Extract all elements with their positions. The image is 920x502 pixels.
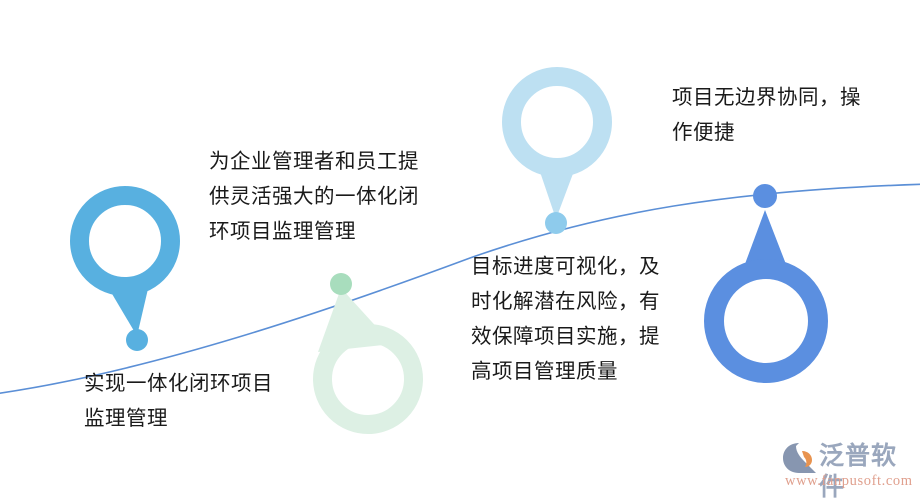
marker-pin-goal-progress-visual[interactable] <box>512 77 603 235</box>
watermark-url: www.fanpusoft.com <box>785 472 913 490</box>
callout-implement-closed-loop: 实现一体化闭环项目 监理管理 <box>84 366 314 436</box>
callout-borderless-collaboration: 项目无边界协同，操 作便捷 <box>672 80 894 150</box>
watermark-brand: 泛普软件 <box>819 440 918 502</box>
node-dot-1[interactable] <box>126 329 148 351</box>
watermark: 泛普软件 www.fanpusoft.com <box>783 440 918 496</box>
marker-pin-implement-closed-loop[interactable] <box>80 196 171 352</box>
infographic-canvas: 为企业管理者和员工提 供灵活强大的一体化闭 环项目监理管理 项目无边界协同，操 … <box>0 0 920 500</box>
callout-goal-progress-visual: 目标进度可视化，及 时化解潜在风险，有 效保障项目实施，提 高项目管理质量 <box>471 249 686 389</box>
pin-ring-4 <box>714 269 818 373</box>
node-dot-4[interactable] <box>753 184 777 208</box>
fanpu-logo-icon <box>783 443 816 473</box>
pin-ring-3 <box>512 77 603 168</box>
node-dot-3[interactable] <box>545 212 567 234</box>
marker-pin-flexible-powerful[interactable] <box>318 273 414 425</box>
marker-pin-borderless-collaboration[interactable] <box>714 184 818 373</box>
pin-ring-2 <box>323 334 414 425</box>
node-dot-2[interactable] <box>330 273 352 295</box>
callout-flexible-powerful: 为企业管理者和员工提 供灵活强大的一体化闭 环项目监理管理 <box>209 144 455 249</box>
pin-ring-1 <box>80 196 171 287</box>
